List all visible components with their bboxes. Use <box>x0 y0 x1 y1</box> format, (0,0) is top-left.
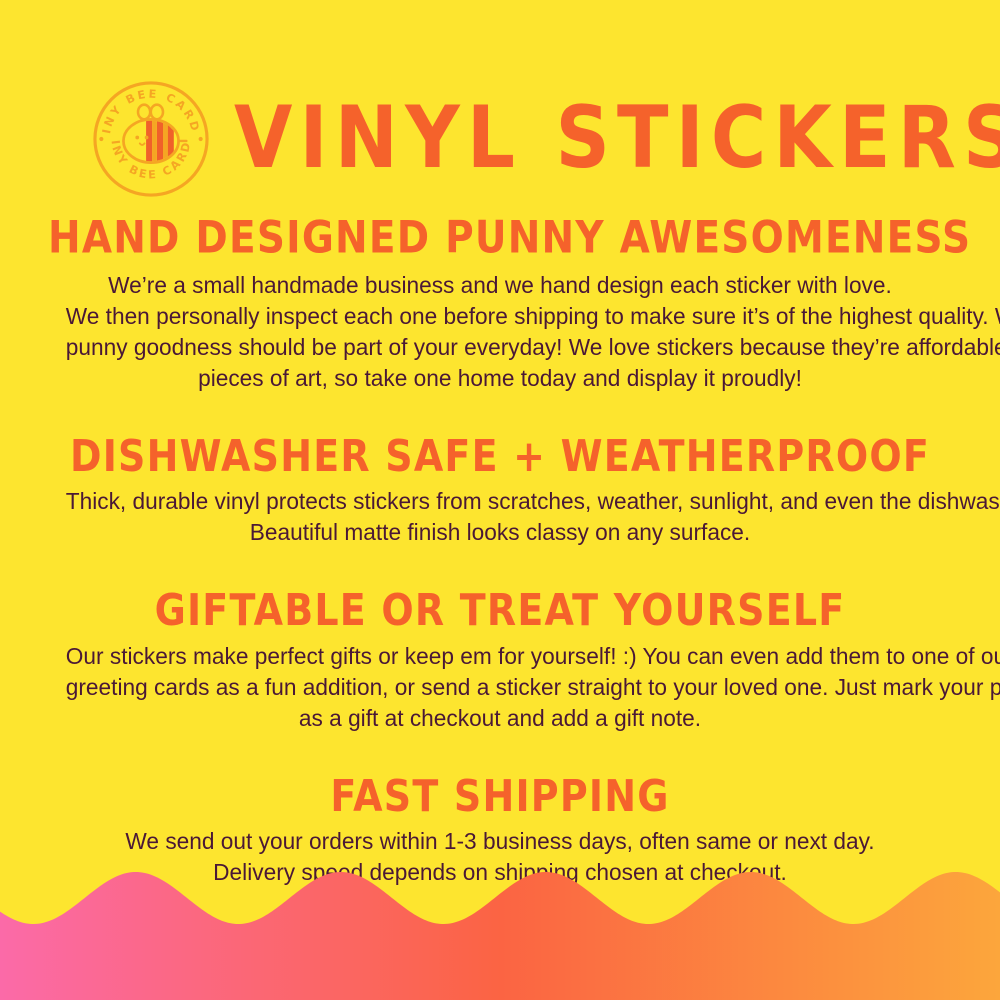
body-line: punny goodness should be part of your ev… <box>66 332 935 363</box>
wave-footer-decoration <box>0 840 1000 1000</box>
section-heading: HAND DESIGNED PUNNY AWESOMENESS <box>48 214 952 264</box>
section-heading: GIFTABLE OR TREAT YOURSELF <box>48 586 952 635</box>
body-line: We’re a small handmade business and we h… <box>66 270 935 301</box>
body-line: We then personally inspect each one befo… <box>66 301 935 332</box>
page-header: TINY BEE CARDS TINY BEE CARDS <box>0 78 1000 198</box>
section-heading: FAST SHIPPING <box>48 772 952 821</box>
body-line: pieces of art, so take one home today an… <box>66 363 935 394</box>
body-line: as a gift at checkout and add a gift not… <box>66 703 935 734</box>
section-heading: DISHWASHER SAFE + WEATHERPROOF <box>48 432 952 481</box>
body-line: Beautiful matte finish looks classy on a… <box>66 517 935 548</box>
section-body: Our stickers make perfect gifts or keep … <box>66 641 935 734</box>
section-body: Thick, durable vinyl protects stickers f… <box>66 486 935 548</box>
section-giftable: GIFTABLE OR TREAT YOURSELF Our stickers … <box>48 592 952 734</box>
content-sections: HAND DESIGNED PUNNY AWESOMENESS We’re a … <box>0 220 1000 888</box>
brand-logo: TINY BEE CARDS TINY BEE CARDS <box>92 80 210 198</box>
body-line: greeting cards as a fun addition, or sen… <box>66 672 935 703</box>
section-dishwasher-safe: DISHWASHER SAFE + WEATHERPROOF Thick, du… <box>48 438 952 549</box>
section-hand-designed: HAND DESIGNED PUNNY AWESOMENESS We’re a … <box>48 220 952 394</box>
section-body: We’re a small handmade business and we h… <box>66 270 935 394</box>
body-line: Thick, durable vinyl protects stickers f… <box>66 486 935 517</box>
sticker-info-page: TINY BEE CARDS TINY BEE CARDS <box>0 0 1000 1000</box>
body-line: Our stickers make perfect gifts or keep … <box>66 641 935 672</box>
page-title: VINYL STICKERS <box>234 95 1000 181</box>
